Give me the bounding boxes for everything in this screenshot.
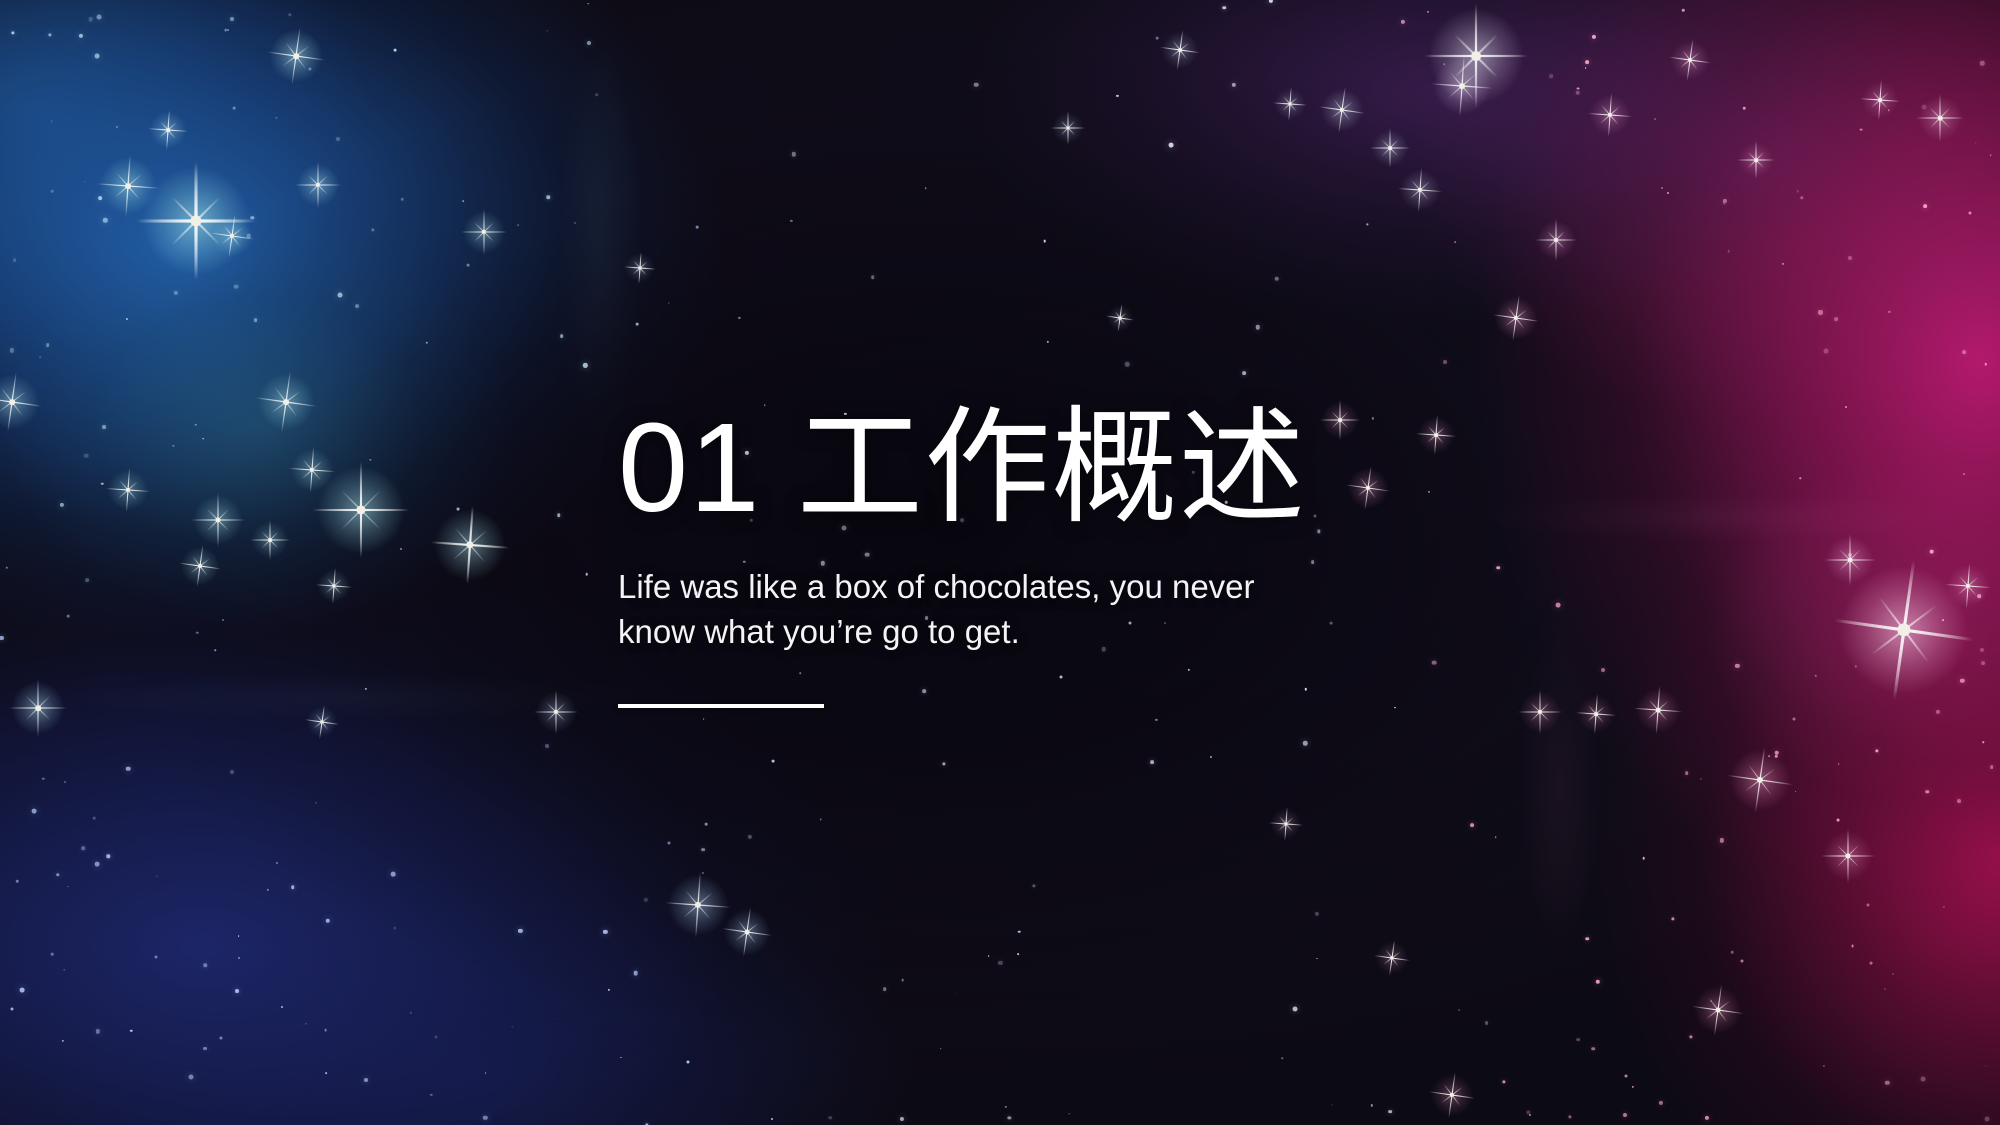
diffraction-star: [1669, 39, 1711, 81]
star-glow: [1635, 687, 1681, 733]
star-core: [1119, 317, 1122, 320]
star-point: [955, 993, 957, 995]
star-point: [485, 1072, 487, 1074]
star-ray: [1061, 121, 1076, 136]
star-ray: [261, 531, 278, 548]
star-point: [1942, 619, 1944, 621]
star-point: [1367, 224, 1368, 225]
star-ray: [1958, 577, 1979, 595]
diffraction-star: [1493, 295, 1539, 341]
diffraction-star: [1860, 80, 1900, 120]
star-ray: [224, 226, 240, 247]
star-point: [1685, 771, 1689, 775]
star-ray: [556, 690, 557, 734]
star-ray: [1737, 160, 1775, 161]
star-ray: [118, 481, 138, 498]
star-ray: [195, 162, 198, 280]
star-glow: [1320, 88, 1364, 132]
star-point: [1968, 211, 1971, 214]
star-point: [483, 1116, 487, 1120]
star-ray: [119, 480, 136, 500]
star-ray: [114, 174, 142, 198]
star-point: [1710, 1001, 1712, 1003]
star-point: [790, 220, 792, 222]
star-point: [1990, 154, 1992, 156]
star-ray: [1051, 128, 1085, 129]
star-point: [85, 578, 89, 582]
diffraction-star: [267, 27, 325, 85]
star-ray: [1535, 240, 1577, 241]
star-point: [1242, 371, 1246, 375]
star-ray: [461, 232, 507, 233]
star-point: [1735, 664, 1739, 668]
star-ray: [1837, 845, 1860, 868]
star-point: [1281, 1058, 1283, 1060]
star-point: [51, 190, 54, 193]
star-point: [1485, 1021, 1489, 1025]
star-point: [1371, 1104, 1373, 1106]
star-ray: [261, 531, 278, 548]
star-ray: [7, 372, 17, 432]
star-ray: [1398, 188, 1442, 192]
star-point: [224, 29, 227, 32]
star-ray: [26, 696, 50, 720]
star-ray: [1061, 121, 1076, 136]
star-ray: [1454, 34, 1498, 78]
star-ray: [633, 262, 648, 275]
star-ray: [190, 558, 210, 573]
star-core: [1966, 584, 1970, 588]
star-ray: [633, 262, 648, 275]
star-point: [1929, 549, 1934, 554]
diffraction-star: [137, 162, 255, 280]
star-ray: [1860, 98, 1900, 102]
star-glow: [535, 691, 577, 733]
star-ray: [148, 128, 188, 132]
star-point: [1800, 196, 1804, 200]
star-ray: [1113, 313, 1127, 324]
star-ray: [1278, 817, 1294, 831]
star-glow: [1917, 95, 1963, 141]
star-point: [1577, 1038, 1581, 1042]
star-ray: [1748, 152, 1764, 168]
star-ray: [1958, 577, 1979, 595]
star-ray: [1278, 817, 1294, 831]
diffraction-star: [316, 568, 352, 604]
star-glow: [1399, 169, 1441, 211]
star-point: [189, 1074, 194, 1079]
star-ray: [1374, 955, 1410, 961]
star-ray: [1748, 152, 1764, 168]
star-ray: [1390, 128, 1391, 168]
star-glow: [1861, 81, 1899, 119]
star-point: [11, 1007, 14, 1010]
star-point: [1922, 105, 1927, 110]
star-ray: [1837, 845, 1860, 868]
star-point: [586, 41, 590, 45]
star-ray: [179, 563, 221, 570]
star-ray: [1431, 83, 1493, 89]
star-ray: [1594, 694, 1598, 734]
diffraction-star: [250, 520, 290, 560]
star-ray: [1893, 560, 1916, 699]
star-point: [1705, 1116, 1709, 1120]
diffraction-star: [1824, 534, 1876, 586]
star-point: [1568, 1116, 1571, 1119]
star-point: [1116, 95, 1118, 97]
star-point: [1775, 751, 1780, 756]
star-ray: [1576, 712, 1616, 716]
star-ray: [166, 110, 170, 150]
star-ray: [313, 509, 409, 511]
diffraction-star: [1634, 686, 1682, 734]
star-point: [32, 809, 37, 814]
star-point: [1845, 406, 1847, 408]
star-ray: [1748, 764, 1772, 795]
star-point: [1851, 944, 1854, 947]
star-ray: [1878, 80, 1882, 120]
star-point: [901, 979, 904, 982]
star-ray: [1284, 807, 1287, 841]
star-point: [1741, 960, 1744, 963]
star-point: [370, 459, 371, 460]
star-point: [364, 1078, 368, 1082]
star-ray: [1727, 775, 1793, 786]
star-point: [1799, 477, 1800, 478]
star-point: [900, 1117, 904, 1121]
star-ray: [1177, 30, 1184, 70]
star-ray: [295, 185, 341, 186]
star-point: [96, 14, 101, 19]
star-glow: [667, 874, 730, 937]
star-ray: [0, 391, 26, 413]
star-ray: [1879, 597, 1930, 663]
slide-subtitle: Life was like a box of chocolates, you n…: [618, 536, 1448, 654]
star-point: [1527, 1110, 1530, 1113]
star-point: [391, 872, 396, 877]
star-point: [400, 548, 402, 550]
diffraction-star: [295, 162, 341, 208]
star-ray: [738, 920, 756, 944]
star-ray: [305, 719, 339, 725]
star-ray: [1106, 316, 1134, 321]
star-ray: [743, 907, 751, 957]
star-point: [1269, 0, 1273, 3]
star-ray: [1411, 180, 1428, 200]
star-ray: [1647, 700, 1669, 719]
star-ray: [1512, 295, 1519, 341]
star-ray: [1916, 117, 1964, 118]
star-ray: [1279, 816, 1293, 832]
star-ray: [171, 196, 221, 246]
star-glow: [149, 111, 187, 149]
star-ray: [1118, 304, 1123, 332]
star-ray: [26, 696, 50, 720]
star-point: [401, 198, 404, 201]
star-glow: [1519, 691, 1561, 733]
star-point: [46, 343, 50, 347]
star-ray: [1966, 563, 1970, 609]
star-point: [1823, 1065, 1825, 1067]
star-point: [620, 1057, 622, 1059]
star-ray: [1687, 39, 1694, 81]
star-ray: [1370, 148, 1410, 149]
star-point: [237, 957, 239, 959]
star-ray: [1837, 845, 1860, 868]
star-point: [1642, 857, 1645, 860]
star-ray: [1837, 845, 1860, 868]
star-point: [1975, 143, 1976, 144]
star-ray: [1588, 705, 1604, 723]
diffraction-star: [1106, 304, 1134, 332]
star-ray: [1680, 52, 1700, 67]
star-point: [1018, 931, 1021, 934]
star-point: [466, 264, 469, 267]
star-core: [332, 584, 335, 587]
star-ray: [1824, 559, 1876, 560]
star-ray: [1068, 111, 1069, 145]
star-ray: [1601, 105, 1618, 125]
star-ray: [125, 155, 131, 217]
star-ray: [302, 461, 323, 479]
star-ray: [1493, 314, 1539, 321]
star-ray: [738, 920, 756, 944]
star-point: [608, 989, 610, 991]
star-ray: [1051, 128, 1085, 129]
star-point: [1859, 128, 1862, 131]
star-point: [1835, 317, 1839, 321]
star-ray: [159, 122, 177, 138]
star-point: [1454, 241, 1456, 243]
diffraction-star: [1518, 690, 1562, 734]
star-ray: [171, 196, 221, 246]
star-ray: [9, 707, 67, 708]
star-ray: [1531, 703, 1550, 722]
star-ray: [159, 122, 177, 138]
star-point: [1672, 917, 1675, 920]
star-glow: [1430, 1073, 1474, 1117]
star-ray: [1930, 108, 1950, 128]
star-point: [667, 841, 670, 844]
star-point: [1990, 765, 1994, 769]
star-point: [126, 318, 128, 320]
star-point: [988, 955, 990, 957]
star-ray: [295, 185, 341, 186]
star-point: [246, 234, 251, 239]
star-ray: [1448, 74, 1476, 98]
star-core: [1340, 108, 1344, 112]
star-ray: [1410, 181, 1430, 198]
star-ray: [97, 183, 159, 189]
star-core: [1388, 146, 1392, 150]
star-ray: [137, 220, 255, 223]
star-ray: [1381, 139, 1398, 156]
star-ray: [1381, 139, 1398, 156]
star-point: [230, 17, 234, 21]
star-ray: [1756, 141, 1757, 179]
star-core: [230, 234, 234, 238]
star-point: [748, 835, 752, 839]
star-point: [1984, 1117, 1989, 1122]
star-point: [254, 318, 258, 322]
star-point: [20, 987, 25, 992]
star-point: [93, 817, 96, 820]
star-point: [1529, 1114, 1531, 1116]
star-point: [238, 935, 240, 937]
star-point: [1875, 749, 1878, 752]
star-ray: [683, 892, 713, 918]
star-point: [325, 1072, 327, 1074]
star-ray: [267, 51, 325, 60]
diffraction-star: [431, 506, 509, 584]
star-point: [1848, 256, 1852, 260]
star-ray: [1531, 703, 1550, 722]
star-point: [234, 284, 239, 289]
star-ray: [1540, 690, 1541, 734]
star-point: [1682, 9, 1685, 12]
star-point: [103, 218, 107, 222]
star-glow: [723, 908, 771, 956]
star-point: [1866, 904, 1869, 907]
star-ray: [556, 690, 557, 734]
star-point: [13, 258, 17, 262]
star-ray: [1737, 160, 1775, 161]
star-ray: [1389, 940, 1395, 976]
star-ray: [1170, 43, 1189, 58]
star-point: [202, 438, 204, 440]
star-point: [1978, 594, 1982, 598]
star-point: [60, 502, 64, 506]
star-ray: [1398, 188, 1442, 192]
star-point: [1210, 756, 1212, 758]
star-ray: [461, 232, 507, 233]
star-point: [456, 507, 459, 510]
star-point: [130, 1029, 132, 1031]
diffraction-star: [255, 371, 317, 433]
star-ray: [281, 371, 291, 433]
star-core: [283, 399, 289, 405]
diffraction-star: [1727, 747, 1793, 813]
star-ray: [1871, 605, 1937, 656]
star-point: [820, 819, 821, 820]
star-point: [107, 854, 110, 857]
star-ray: [1431, 83, 1493, 89]
star-point: [1659, 1101, 1663, 1105]
star-core: [1066, 126, 1069, 129]
star-point: [203, 964, 206, 967]
star-ray: [1160, 47, 1200, 54]
star-ray: [319, 705, 325, 739]
star-ray: [534, 712, 578, 713]
star-ray: [1177, 30, 1184, 70]
star-point: [1888, 110, 1889, 111]
star-ray: [195, 162, 198, 280]
star-ray: [192, 556, 207, 576]
star-glow: [0, 374, 41, 431]
star-glow: [10, 680, 65, 735]
star-point: [51, 121, 52, 122]
star-point: [1068, 1113, 1069, 1114]
star-ray: [1418, 168, 1422, 212]
star-ray: [316, 584, 352, 588]
star-ray: [313, 509, 409, 511]
star-ray: [1748, 152, 1764, 168]
star-ray: [1319, 106, 1365, 113]
diffraction-star: [1429, 1072, 1475, 1118]
star-ray: [1454, 34, 1498, 78]
star-point: [1255, 325, 1259, 329]
star-ray: [1547, 231, 1565, 249]
star-point: [1623, 1113, 1627, 1117]
star-ray: [37, 679, 38, 737]
star-point: [56, 873, 59, 876]
star-ray: [275, 387, 297, 416]
diffraction-star: [1945, 563, 1991, 609]
star-ray: [289, 468, 335, 472]
star-point: [1768, 756, 1770, 758]
star-ray: [1939, 94, 1940, 142]
star-ray: [1755, 747, 1766, 813]
star-ray: [1284, 807, 1287, 841]
star-core: [9, 399, 15, 405]
star-ray: [1283, 96, 1297, 112]
diffraction-star: [1737, 141, 1775, 179]
star-point: [1575, 90, 1580, 95]
star-point: [116, 126, 118, 128]
star-ray: [1334, 99, 1351, 121]
star-point: [925, 188, 926, 189]
star-point: [1782, 263, 1784, 265]
star-point: [102, 425, 106, 429]
star-core: [320, 720, 323, 723]
star-point: [203, 1047, 207, 1051]
star-point: [250, 216, 253, 219]
star-ray: [1493, 314, 1539, 321]
star-ray: [1459, 55, 1465, 117]
star-ray: [171, 196, 221, 246]
star-ray: [7, 372, 17, 432]
star-ray: [160, 121, 176, 139]
star-ray: [1444, 1084, 1461, 1106]
diffraction-star: [1269, 807, 1303, 841]
diffraction-star: [1051, 111, 1085, 145]
star-core: [310, 468, 314, 472]
star-ray: [270, 520, 271, 560]
star-ray: [1587, 706, 1605, 722]
star-point: [174, 291, 178, 295]
star-point: [1155, 718, 1157, 720]
star-glow: [1838, 564, 1971, 697]
star-glow: [1270, 808, 1302, 840]
star-ray: [1588, 705, 1604, 723]
star-point: [1331, 1105, 1332, 1106]
star-glow: [1274, 88, 1306, 120]
star-ray: [327, 578, 341, 594]
star-point: [1690, 1035, 1693, 1038]
star-glow: [317, 569, 351, 603]
diffraction-star: [305, 705, 339, 739]
star-point: [1223, 6, 1227, 10]
star-ray: [302, 461, 323, 479]
star-ray: [1709, 998, 1728, 1023]
star-core: [482, 230, 486, 234]
star-point: [67, 615, 70, 618]
star-ray: [1385, 949, 1398, 966]
star-glow: [99, 157, 158, 216]
star-point: [371, 228, 374, 231]
star-ray: [1872, 91, 1888, 109]
star-glow: [315, 464, 406, 555]
